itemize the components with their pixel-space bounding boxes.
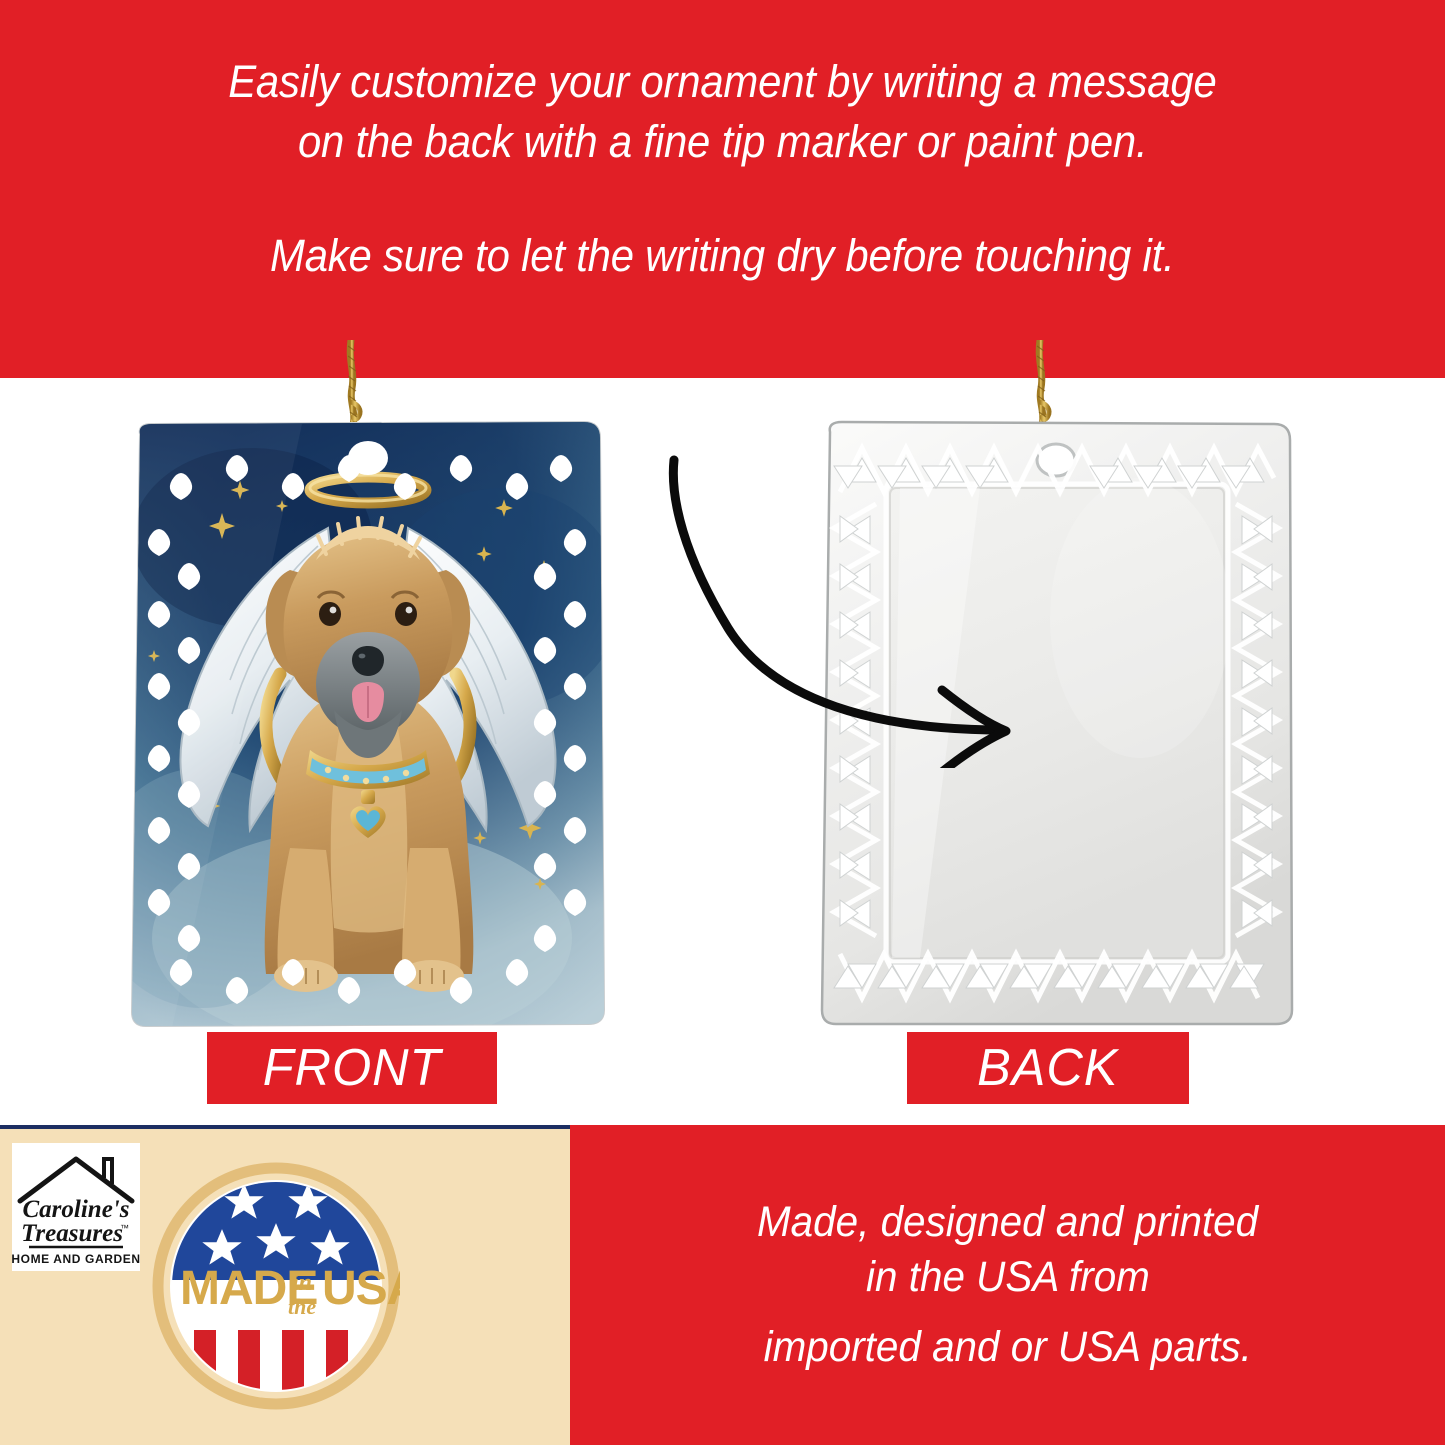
instruction-line-1: Easily customize your ornament by writin…	[228, 52, 1216, 112]
badge-word-the: the	[288, 1294, 316, 1319]
product-infographic: Easily customize your ornament by writin…	[0, 0, 1445, 1445]
wheaten-terrier-dog	[265, 518, 474, 992]
back-caption-label: BACK	[977, 1038, 1118, 1098]
back-ornament	[800, 418, 1312, 1038]
logo-line-1: Caroline's	[23, 1196, 130, 1223]
instructions-panel: Easily customize your ornament by writin…	[0, 0, 1445, 378]
front-caption-label: FRONT	[263, 1038, 442, 1098]
made-in-usa-badge: MADE in the USA	[152, 1162, 400, 1410]
front-caption: FRONT	[207, 1032, 497, 1104]
origin-panel: Made, designed and printed in the USA fr…	[570, 1125, 1445, 1445]
front-ornament	[112, 418, 624, 1038]
origin-line-2: in the USA from	[866, 1250, 1150, 1305]
origin-line-3: imported and or USA parts.	[763, 1320, 1251, 1375]
carolines-treasures-logo: Caroline's Treasures ™ HOME AND GARDEN	[12, 1143, 140, 1271]
badge-word-usa: USA	[322, 1262, 400, 1315]
instruction-line-3: Make sure to let the writing dry before …	[270, 226, 1175, 286]
product-showcase: FRONT BACK	[0, 378, 1445, 1125]
logo-tagline: HOME AND GARDEN	[12, 1252, 140, 1266]
logo-trademark: ™	[120, 1223, 129, 1233]
badge-word-in: in	[292, 1270, 312, 1296]
origin-line-1: Made, designed and printed	[757, 1195, 1258, 1250]
instruction-line-2: on the back with a fine tip marker or pa…	[298, 112, 1147, 172]
back-caption: BACK	[907, 1032, 1189, 1104]
logo-line-2: Treasures	[21, 1220, 123, 1247]
